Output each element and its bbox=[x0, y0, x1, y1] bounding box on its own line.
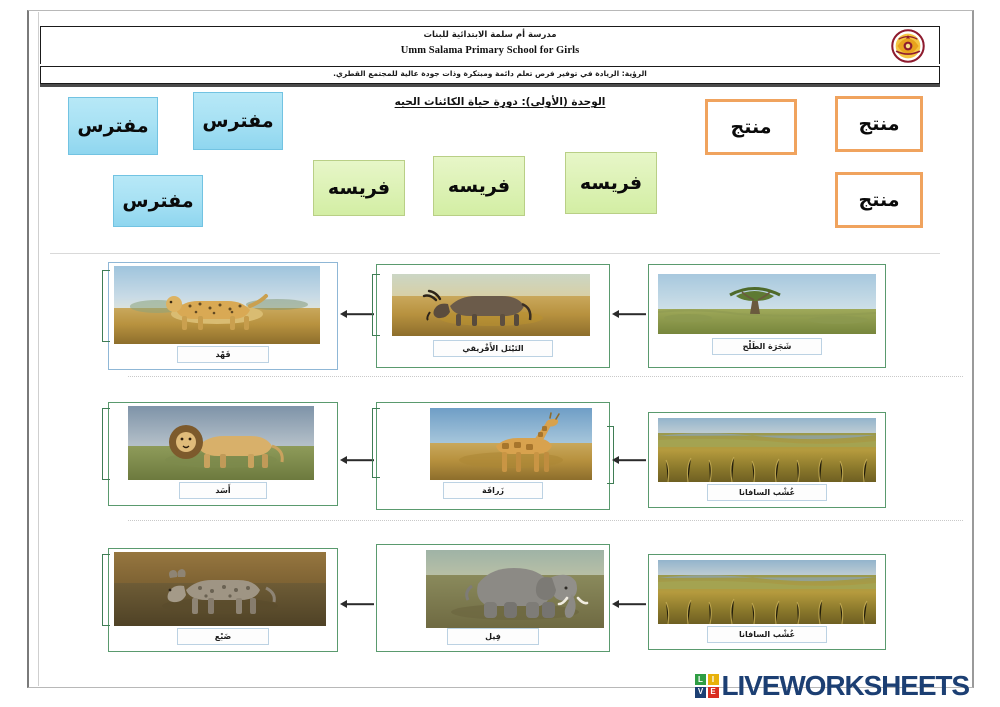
grass-label-2: عُشْب السافانا bbox=[707, 626, 827, 643]
cube-letter-e: E bbox=[708, 687, 719, 698]
school-vision-text: الرؤية: الريادة في توفير فرص تعلم دائمة … bbox=[41, 69, 939, 78]
hyena-label: ضَبْع bbox=[177, 628, 269, 645]
school-name-english: Umm Salama Primary School for Girls bbox=[41, 45, 939, 56]
cheetah-cell[interactable]: فَهْد bbox=[108, 262, 338, 370]
elephant-photo bbox=[426, 550, 604, 628]
giraffe-photo bbox=[430, 408, 592, 480]
cube-letter-l: L bbox=[695, 674, 706, 685]
lion-photo bbox=[128, 406, 314, 480]
energy-flow-arrow bbox=[340, 454, 374, 466]
grass-label: عُشْب السافانا bbox=[707, 484, 827, 501]
school-header-name-row: مدرسة أم سلمة الابتدائية للبنات Umm Sala… bbox=[40, 26, 940, 64]
energy-flow-arrow bbox=[612, 598, 646, 610]
liveworksheets-logo[interactable]: L V I E LIVEWORKSHEETS bbox=[695, 672, 969, 700]
energy-flow-arrow bbox=[612, 308, 646, 320]
wildebeest-cell[interactable]: التَيْتَل الأَفْريقي bbox=[376, 264, 610, 368]
cheetah-photo bbox=[114, 266, 320, 344]
food-chain-row-1: فَهْد bbox=[50, 258, 940, 380]
qatar-ministry-of-education-logo bbox=[891, 29, 925, 63]
school-vision-row: الرؤية: الريادة في توفير فرص تعلم دائمة … bbox=[40, 66, 940, 84]
giraffe-bracket-left bbox=[372, 408, 379, 478]
savanna-grass-photo-2 bbox=[658, 560, 876, 624]
card-predator-2[interactable]: مفترس bbox=[193, 92, 283, 150]
giraffe-cell[interactable]: زَرافَة bbox=[376, 402, 610, 510]
giraffe-label: زَرافَة bbox=[443, 482, 543, 499]
liveworksheets-cubes: L V I E bbox=[695, 674, 719, 698]
acacia-cell[interactable]: شَجَرَة الطَلْح bbox=[648, 264, 886, 368]
elephant-label: فِيل bbox=[447, 628, 539, 645]
wildebeest-photo bbox=[392, 274, 590, 336]
worksheet-page: مدرسة أم سلمة الابتدائية للبنات Umm Sala… bbox=[0, 0, 1000, 707]
savanna-grass-photo bbox=[658, 418, 876, 482]
card-prey-2[interactable]: فريسه bbox=[433, 156, 525, 216]
hyena-cell[interactable]: ضَبْع bbox=[108, 548, 338, 652]
food-chain-row-3: ضَبْع bbox=[50, 540, 940, 662]
energy-flow-arrow bbox=[340, 598, 374, 610]
wildebeest-bracket-left bbox=[372, 274, 379, 336]
liveworksheets-wordmark: LIVEWORKSHEETS bbox=[722, 672, 970, 700]
acacia-photo bbox=[658, 274, 876, 334]
lion-label: أَسَد bbox=[179, 482, 267, 499]
row-divider bbox=[128, 520, 963, 521]
wildebeest-label: التَيْتَل الأَفْريقي bbox=[433, 340, 553, 357]
hyena-photo bbox=[114, 552, 326, 626]
cheetah-bracket-left bbox=[102, 270, 109, 342]
cube-letter-i: I bbox=[708, 674, 719, 685]
school-name-arabic: مدرسة أم سلمة الابتدائية للبنات bbox=[41, 30, 939, 40]
lion-cell[interactable]: أَسَد bbox=[108, 402, 338, 506]
lion-bracket-left bbox=[102, 408, 109, 480]
elephant-cell[interactable]: فِيل bbox=[376, 544, 610, 652]
food-chain-row-2: أَسَد bbox=[50, 398, 940, 520]
energy-flow-arrow bbox=[612, 454, 646, 466]
row-divider bbox=[128, 376, 963, 377]
grass-cell[interactable]: عُشْب السافانا bbox=[648, 412, 886, 508]
card-prey-1[interactable]: فريسه bbox=[313, 160, 405, 216]
acacia-label: شَجَرَة الطَلْح bbox=[712, 338, 822, 355]
school-header: مدرسة أم سلمة الابتدائية للبنات Umm Sala… bbox=[40, 26, 940, 88]
card-prey-3[interactable]: فريسه bbox=[565, 152, 657, 214]
card-producer-1[interactable]: منتج bbox=[705, 99, 797, 155]
energy-flow-arrow bbox=[340, 308, 374, 320]
card-producer-3[interactable]: منتج bbox=[835, 172, 923, 228]
hyena-bracket-left bbox=[102, 554, 109, 626]
grass-cell-2[interactable]: عُشْب السافانا bbox=[648, 554, 886, 650]
card-predator-3[interactable]: مفترس bbox=[113, 175, 203, 227]
card-producer-2[interactable]: منتج bbox=[835, 96, 923, 152]
cube-letter-v: V bbox=[695, 687, 706, 698]
card-predator-1[interactable]: مفترس bbox=[68, 97, 158, 155]
section-divider bbox=[50, 253, 940, 254]
cheetah-label: فَهْد bbox=[177, 346, 269, 363]
